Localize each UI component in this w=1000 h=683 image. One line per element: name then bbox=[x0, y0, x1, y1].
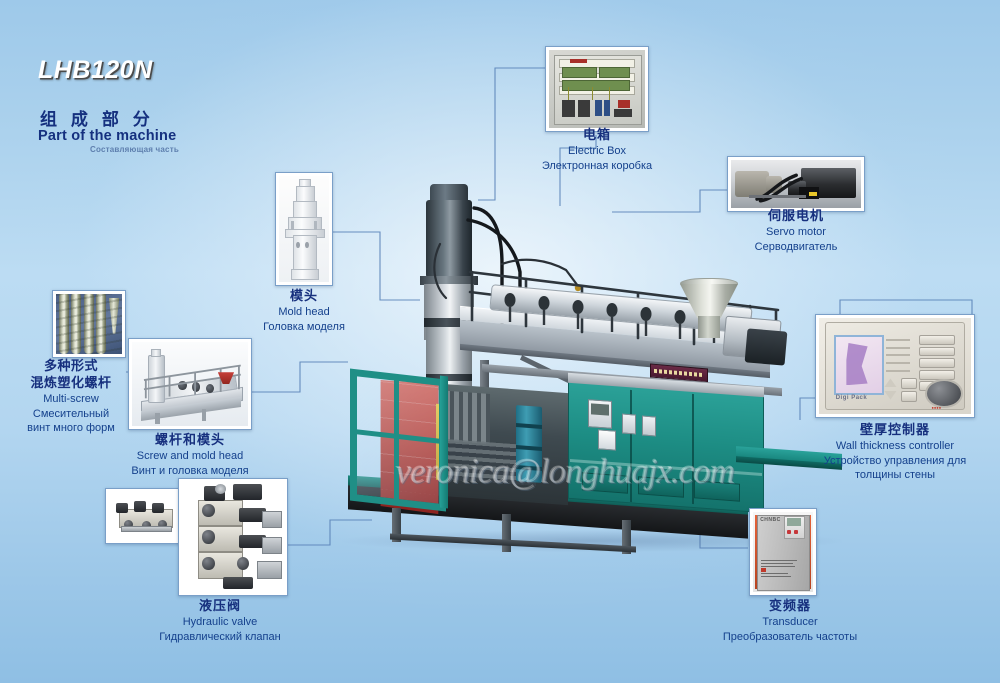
label-electric-box: 电箱 Electric Box Электронная коробка bbox=[506, 127, 688, 173]
label-mold-head-cn: 模头 bbox=[215, 288, 393, 305]
wtc-warning-text: ●●●● bbox=[931, 405, 941, 410]
hv-valve-cap-3 bbox=[202, 557, 214, 570]
transducer-run-key[interactable] bbox=[787, 530, 791, 534]
safety-cage-post-right bbox=[440, 376, 448, 509]
cabinet-vent-3 bbox=[694, 480, 740, 501]
label-wtc-ru-line1: Устройство управления для bbox=[800, 454, 990, 469]
mold-head-port-a bbox=[296, 242, 300, 248]
hv-port-plate-1 bbox=[262, 511, 282, 528]
mold-head-port-b bbox=[305, 242, 309, 248]
wtc-enter-button[interactable] bbox=[901, 378, 917, 389]
breaker-red-1 bbox=[570, 59, 587, 63]
mold-head-bolt-left bbox=[291, 221, 294, 231]
label-electric-box-ru: Электронная коробка bbox=[506, 159, 688, 174]
contactor-1 bbox=[562, 100, 574, 117]
transducer-brand-label: CHNBC bbox=[760, 517, 781, 523]
panel-readout bbox=[598, 429, 616, 450]
panel-button-cluster-b bbox=[642, 415, 656, 436]
label-multi-screw-en: Multi-screw bbox=[12, 392, 130, 407]
label-hydraulic-valve-ru: Гидравлический клапан bbox=[110, 630, 330, 645]
label-transducer-en: Transducer bbox=[690, 615, 890, 630]
smh-die-top bbox=[151, 349, 161, 357]
cabinet-vent-1 bbox=[582, 472, 628, 493]
multi-screw-photo[interactable] bbox=[52, 290, 126, 358]
screw-flight-shadows bbox=[56, 294, 122, 354]
label-screw-mold-head-cn: 螺杆和模头 bbox=[100, 432, 280, 449]
servo-mount-bracket bbox=[749, 195, 806, 199]
hydraulic-cylinder-stack bbox=[516, 405, 542, 483]
label-wtc-en: Wall thickness controller bbox=[800, 439, 990, 454]
label-transducer: 变频器 Transducer Преобразователь частоты bbox=[690, 598, 890, 644]
label-servo-motor: 伺服电机 Servo motor Серводвигатель bbox=[706, 208, 886, 254]
label-mold-head: 模头 Mold head Головка моделя bbox=[215, 288, 393, 334]
controller-module-1 bbox=[562, 67, 597, 78]
hv-s-solenoid-1 bbox=[116, 503, 128, 514]
smh-leg-1 bbox=[155, 413, 160, 425]
hydraulic-valve-photo[interactable] bbox=[178, 478, 288, 596]
hv-valve-cap-1 bbox=[202, 504, 214, 517]
label-servo-motor-cn: 伺服电机 bbox=[706, 208, 886, 225]
mold-head-photo[interactable] bbox=[275, 172, 333, 286]
label-servo-motor-ru: Серводвигатель bbox=[706, 240, 886, 255]
mold-head-bolt-right bbox=[314, 221, 317, 231]
wtc-param-row-4 bbox=[886, 362, 910, 364]
mold-head-base bbox=[291, 269, 319, 279]
label-hydraulic-valve-cn: 液压阀 bbox=[110, 598, 330, 615]
label-mold-head-en: Mold head bbox=[215, 305, 393, 320]
transducer-spec-line-4 bbox=[761, 573, 787, 574]
relay-block-1 bbox=[595, 100, 602, 116]
transducer-stop-key[interactable] bbox=[794, 530, 798, 534]
cabinet-door-seam-1 bbox=[630, 390, 632, 502]
product-diagram-poster: LHB120N 组 成 部 分 Part of the machine Сост… bbox=[0, 0, 1000, 683]
contactor-2 bbox=[578, 100, 590, 117]
hv-s-solenoid-3 bbox=[152, 503, 164, 514]
controller-module-2 bbox=[599, 67, 630, 78]
label-electric-box-cn: 电箱 bbox=[506, 127, 688, 144]
transducer-lcd bbox=[787, 518, 801, 526]
label-servo-motor-en: Servo motor bbox=[706, 225, 886, 240]
hv-pressure-gauge bbox=[215, 484, 226, 494]
wtc-back-button[interactable] bbox=[901, 391, 917, 402]
label-transducer-cn: 变频器 bbox=[690, 598, 890, 615]
terminal-strip bbox=[562, 80, 629, 91]
section-title-cn: 组 成 部 分 bbox=[40, 105, 154, 130]
screw-mold-head-photo[interactable] bbox=[128, 338, 252, 430]
label-multi-screw: 多种形式 混炼塑化螺杆 Multi-screw Смесительный вин… bbox=[12, 358, 130, 436]
hv-valve-cap-2 bbox=[202, 530, 214, 543]
transducer-warning-icon bbox=[761, 568, 766, 572]
label-mold-head-ru: Головка моделя bbox=[215, 320, 393, 335]
wtc-softkey-2[interactable] bbox=[919, 347, 954, 357]
section-title-ru: Составляющая часть bbox=[90, 145, 179, 154]
servo-motor-photo[interactable] bbox=[727, 156, 865, 212]
transducer-photo[interactable]: CHNBC bbox=[749, 508, 817, 596]
wtc-param-row-3 bbox=[886, 354, 910, 356]
section-title-en: Part of the machine bbox=[38, 128, 176, 144]
wire-bundle-2 bbox=[592, 87, 593, 99]
wtc-brand-label: Digi Pack bbox=[836, 395, 868, 401]
breaker-red-2 bbox=[618, 100, 630, 108]
label-multi-screw-ru-line1: Смесительный bbox=[12, 407, 130, 422]
wtc-softkey-4[interactable] bbox=[919, 370, 954, 380]
relay-block-2 bbox=[604, 100, 611, 116]
operator-panel-screen bbox=[591, 403, 609, 415]
label-screw-mold-head-en: Screw and mold head bbox=[100, 449, 280, 464]
hv-s-solenoid-2 bbox=[134, 501, 146, 513]
label-multi-screw-cn-line2: 混炼塑化螺杆 bbox=[12, 375, 130, 392]
wire-bundle-3 bbox=[609, 87, 610, 99]
label-electric-box-en: Electric Box bbox=[506, 144, 688, 159]
transducer-spec-line-3 bbox=[761, 566, 795, 567]
label-hydraulic-valve-en: Hydraulic valve bbox=[110, 615, 330, 630]
transducer-spec-line-5 bbox=[761, 576, 791, 577]
hose-4 bbox=[434, 244, 446, 298]
hv-port-plate-3 bbox=[257, 561, 281, 578]
model-name: LHB120N bbox=[38, 56, 153, 85]
wtc-param-row-5 bbox=[886, 370, 910, 372]
label-wtc-cn: 壁厚控制器 bbox=[800, 422, 990, 439]
label-hydraulic-valve: 液压阀 Hydraulic valve Гидравлический клапа… bbox=[110, 598, 330, 644]
wtc-param-row-1 bbox=[886, 339, 910, 341]
drive-motor-dark bbox=[745, 328, 788, 365]
hv-port-plate-2 bbox=[262, 537, 282, 554]
label-screw-mold-head: 螺杆和模头 Screw and mold head Винт и головка… bbox=[100, 432, 280, 478]
wtc-param-row-2 bbox=[886, 347, 910, 349]
electric-box-photo[interactable] bbox=[545, 46, 649, 132]
machine-leg-front-mid bbox=[502, 514, 511, 552]
safety-cage-mullion-v bbox=[394, 378, 399, 503]
transducer-spec-line-1 bbox=[761, 560, 797, 561]
transducer-spec-line-2 bbox=[761, 563, 792, 564]
hv-solenoid-bottom bbox=[223, 577, 254, 589]
wall-thickness-controller-photo[interactable]: Digi Pack ●●●● bbox=[815, 314, 975, 418]
hopper-throat bbox=[698, 316, 720, 338]
smh-leg-2 bbox=[202, 409, 207, 421]
wire-bundle-1 bbox=[568, 87, 569, 99]
label-transducer-ru: Преобразователь частоты bbox=[690, 630, 890, 645]
label-wall-thickness-controller: 壁厚控制器 Wall thickness controller Устройст… bbox=[800, 422, 990, 483]
hv-solenoid-top-2 bbox=[233, 484, 262, 499]
label-wtc-ru-line2: толщины стены bbox=[800, 468, 990, 483]
panel-button-cluster-a bbox=[622, 413, 636, 434]
cabinet-vent-2 bbox=[638, 476, 684, 497]
label-multi-screw-cn-line1: 多种形式 bbox=[12, 358, 130, 375]
wtc-softkey-3[interactable] bbox=[919, 358, 954, 368]
wtc-softkey-1[interactable] bbox=[919, 335, 954, 345]
hydraulic-valve-photo-small[interactable] bbox=[105, 488, 187, 544]
power-supply-unit bbox=[614, 109, 631, 117]
label-screw-mold-head-ru: Винт и головка моделя bbox=[100, 464, 280, 479]
hv-s-base-plate bbox=[121, 526, 172, 533]
